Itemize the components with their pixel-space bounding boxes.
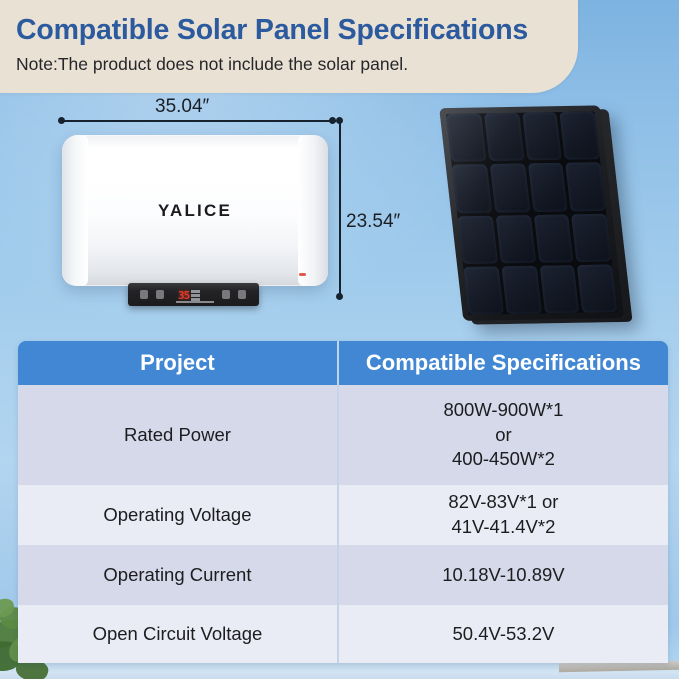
header-banner: Compatible Solar Panel Specifications No… <box>0 0 578 93</box>
height-dimension-label: 23.54″ <box>346 211 400 233</box>
cell-specification: 50.4V-53.2V <box>339 605 668 663</box>
cell-project: Operating Current <box>18 545 339 605</box>
width-dimension-line <box>61 120 336 122</box>
table-header: Project Compatible Specifications <box>18 341 668 385</box>
column-header-specifications: Compatible Specifications <box>339 341 668 385</box>
width-dimension-dot-left <box>58 117 65 124</box>
solar-panel-image <box>439 105 633 327</box>
page-title: Compatible Solar Panel Specifications <box>16 14 528 47</box>
height-dimension-dot-top <box>336 117 343 124</box>
temperature-display: 35 <box>178 288 212 302</box>
temperature-value: 35 <box>178 289 189 302</box>
table-row: Open Circuit Voltage 50.4V-53.2V <box>18 605 668 663</box>
infographic-canvas: Compatible Solar Panel Specifications No… <box>0 0 679 679</box>
brand-logo: YALICE <box>62 201 328 221</box>
cell-specification: 82V-83V*1 or 41V-41.4V*2 <box>339 485 668 545</box>
timer-icon <box>222 290 230 299</box>
power-icon <box>140 290 148 299</box>
column-header-project: Project <box>18 341 339 385</box>
cell-project: Operating Voltage <box>18 485 339 545</box>
mode-icon <box>156 290 164 299</box>
header-note: Note:The product does not include the so… <box>16 54 408 75</box>
heater-control-panel: 35 <box>128 283 259 306</box>
table-row: Operating Voltage 82V-83V*1 or 41V-41.4V… <box>18 485 668 545</box>
power-led-indicator <box>299 273 306 276</box>
width-dimension-dot-right <box>329 117 336 124</box>
water-heater-image: YALICE <box>62 135 328 286</box>
solar-cell-grid <box>446 111 618 314</box>
cell-specification: 800W-900W*1 or 400-450W*2 <box>339 385 668 485</box>
display-indicator-bars <box>191 290 200 301</box>
table-body: Rated Power 800W-900W*1 or 400-450W*2 Op… <box>18 385 668 663</box>
cell-project: Rated Power <box>18 385 339 485</box>
height-dimension-line <box>339 120 341 297</box>
table-row: Operating Current 10.18V-10.89V <box>18 545 668 605</box>
table-header-row: Project Compatible Specifications <box>18 341 668 385</box>
specifications-table: Project Compatible Specifications Rated … <box>18 341 668 663</box>
width-dimension-label: 35.04″ <box>155 96 209 118</box>
settings-icon <box>238 290 246 299</box>
height-dimension-dot-bottom <box>336 293 343 300</box>
solar-panel-frame <box>439 105 624 320</box>
display-underline <box>176 301 214 303</box>
cell-specification: 10.18V-10.89V <box>339 545 668 605</box>
table-row: Rated Power 800W-900W*1 or 400-450W*2 <box>18 385 668 485</box>
cell-project: Open Circuit Voltage <box>18 605 339 663</box>
